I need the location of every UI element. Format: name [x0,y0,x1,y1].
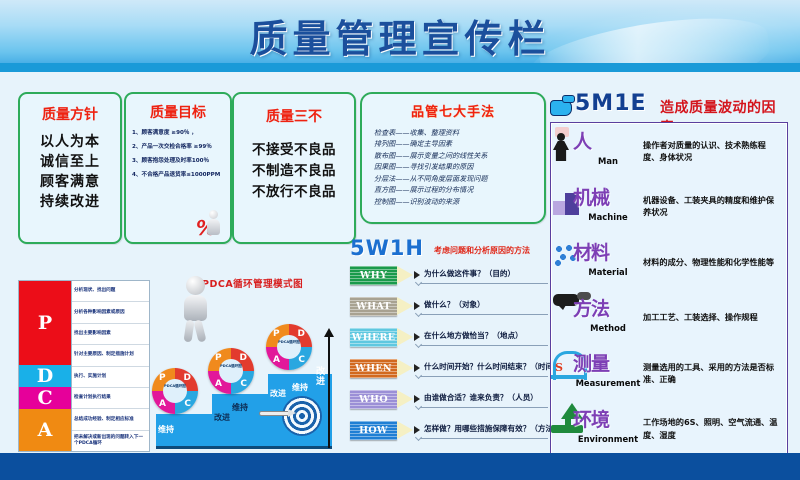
three-no-line: 不放行不良品 [234,182,354,203]
w5h1-text: 什么时间开始？什么时间结束？（时间） [424,361,548,372]
step-label-sustain-3: 维持 [292,382,308,393]
page-title: 质量管理宣传栏 [0,8,800,63]
pdca-cell: 分析各种影响因素或原因 [72,302,149,323]
step-label-sustain-1: 维持 [158,424,174,435]
quality-policy-lines: 以人为本 诚信至上 顾客满意 持续改进 [20,133,120,213]
card-quality-goal: 质量目标 1、顾客满意度 ≥90％ ， 2、产品一次交检合格率 ≥99％ 3、顾… [124,92,232,244]
m1e-label-cn: 方法 [573,294,609,321]
step-label-improve-1: 改进 [214,412,230,423]
w5h1-title: 5W1H [350,236,424,260]
pdca-letter-d: D [19,365,71,387]
arrow-shape-icon [397,297,413,315]
arrow-shape-icon [397,421,413,439]
m1e-panel: 人 Man 操作者对质量的认识、技术熟练程度、身体状况 机械 Machine 机… [550,122,788,458]
pdca-table: P D C A 分析现状、找出问题 分析各种影响因素或原因 找出主要影响因素 针… [18,280,150,452]
cycle-letter-d: D [240,353,247,363]
seven-tool-item: 散布图——展示变量之间的线性关系 [374,150,544,161]
seven-tool-item: 检查表——收集、整理资料 [374,127,544,138]
w5h1-text: 为什么做这件事？（目的） [424,268,548,279]
m1e-icon-cell: 方法 Method [551,290,643,346]
cycle-letter-c: C [240,379,247,389]
w5h1-row: WHAT 做什么？（对象） [348,295,548,326]
m1e-row-environment: 环境 Environment 工作场地的6S、照明、空气流通、温度、湿度 [551,401,787,457]
seven-tools-list: 检查表——收集、整理资料 排列图——确定主导因素 散布图——展示变量之间的线性关… [374,127,544,207]
cycle-caption: PDCA循环图 [219,364,243,368]
axis-label-improve: 改进 [316,368,330,388]
poster-header: 质量管理宣传栏 [0,0,800,72]
cycle-letter-d: D [184,373,191,383]
seven-tool-item: 分层法——从不同角度层面发现问题 [374,173,544,184]
w5h1-underline [420,283,548,284]
w5h1-row: WHY 为什么做这件事？（目的） [348,264,548,295]
seven-tool-item: 因果图——寻找引发结果的原因 [374,161,544,172]
dart-arrow-icon [260,412,290,415]
arrow-shape-icon [397,328,413,346]
m1e-label-cn: 材料 [573,238,609,265]
pdca-cell: 分析现状、找出问题 [72,281,149,302]
w5h1-text: 怎样做？用哪些措施保障有效？（方法） [424,423,548,434]
m1e-label-en: Method [575,323,641,333]
w5h1-underline [420,407,548,408]
bullet-triangle-icon [414,302,420,310]
w5h1-subtitle: 考虑问题和分析原因的方法 [434,245,530,256]
w5h1-underline [420,376,548,377]
w5h1-text: 由谁做合适？谁来负责？（人员） [424,392,548,403]
policy-line: 持续改进 [20,193,120,213]
seven-tool-item: 直方图——展示过程的分布情况 [374,184,544,195]
m1e-icon-cell: 环境 Environment [551,401,643,457]
m1e-label-cn: 环境 [573,405,609,432]
cycle-caption: PDCA循环图 [277,340,301,344]
step-label-sustain-2: 维持 [232,402,248,413]
m1e-description: 加工工艺、工装选择、操作规程 [643,311,787,323]
w5h1-tab-what: WHAT [350,297,397,316]
m1e-description: 材料的成分、物理性能和化学性能等 [643,256,787,268]
pdca-cell: 针对主要原因、制定措施计划 [72,345,149,366]
bullet-triangle-icon [414,364,420,372]
seven-tool-item: 排列图——确定主导因素 [374,138,544,149]
header-bottom-edge [0,63,800,72]
quality-policy-heading: 质量方针 [20,104,120,124]
pdca-letter-p: P [19,281,71,365]
m1e-label-cn: 人 [573,127,591,154]
w5h1-underline [420,345,548,346]
w5h1-row: WHO 由谁做合适？谁来负责？（人员） [348,388,548,419]
pdca-cycle-2: P D C A PDCA循环图 [208,348,254,394]
m1e-label-cn: 机械 [573,183,609,210]
w5h1-tab-where: WHERE [350,328,397,347]
quality-three-no-lines: 不接受不良品 不制造不良品 不放行不良品 [234,140,354,203]
pdca-letter-column: P D C A [19,281,71,451]
bullet-triangle-icon [414,271,420,279]
section-5m1e: 5M1E 造成质量波动的因素 人 Man 操作者对质量的认识、技术熟练程度、身体… [548,92,788,458]
m1e-title: 5M1E [575,91,647,116]
goal-item: 3、顾客抱怨处理及时率100％ [132,158,225,166]
pdca-cell: 把未解决或新出现的问题转入下一个PDCA循环 [72,431,149,451]
m1e-row-man: 人 Man 操作者对质量的认识、技术熟练程度、身体状况 [551,123,787,179]
cycle-letter-p: P [273,329,280,339]
m1e-icon-cell: 机械 Machine [551,179,643,235]
three-no-line: 不制造不良品 [234,161,354,182]
policy-line: 顾客满意 [20,173,120,193]
pdca-cycle-1: P D C A PDCA循环图 [152,368,198,414]
bullet-triangle-icon [414,395,420,403]
step-label-improve-2: 改进 [270,388,286,399]
manikin-figure-icon [178,276,212,342]
policy-line: 以人为本 [20,133,120,153]
improvement-axis-arrow-icon [328,336,330,448]
m1e-label-en: Environment [575,434,641,444]
person-body-icon [553,141,569,161]
pdca-letter-a: A [19,409,71,451]
m1e-row-machine: 机械 Machine 机器设备、工装夹具的精度和维护保养状况 [551,179,787,235]
goal-item: 4、不合格产品退货率≤1000PPM [132,172,225,180]
m1e-label-cn: 测量 [573,349,609,376]
w5h1-row: HOW 怎样做？用哪些措施保障有效？（方法） [348,419,548,450]
policy-line: 诚信至上 [20,153,120,173]
m1e-icon-cell: 人 Man [551,123,643,179]
pdca-description-column: 分析现状、找出问题 分析各种影响因素或原因 找出主要影响因素 针对主要原因、制定… [71,281,149,451]
section-5w1h: 5W1H 考虑问题和分析原因的方法 WHY 为什么做这件事？（目的） WHAT … [348,236,548,458]
seven-tools-heading: 品管七大手法 [362,101,544,120]
w5h1-text: 做什么？（对象） [424,299,548,310]
m1e-label-en: Man [575,156,641,166]
stair-base-line [156,446,332,449]
m1e-label-en: Measurement [575,378,641,388]
w5h1-row: WHERE 在什么地方做恰当？（地点） [348,326,548,357]
m1e-row-measurement: S 测量 Measurement 测量选用的工具、采用的方法是否标准、正确 [551,345,787,401]
w5h1-tab-why: WHY [350,266,397,285]
pdca-cell: 总结成功经验、制定相应标准 [72,409,149,430]
gauge-letter-icon: S [555,361,563,374]
figurine-icon [205,210,222,242]
pointing-hand-icon [548,94,574,118]
bullet-triangle-icon [414,333,420,341]
quality-three-no-heading: 质量三不 [234,106,354,126]
goal-item: 2、产品一次交检合格率 ≥99％ [132,144,225,152]
goal-item: 1、顾客满意度 ≥90％ ， [132,130,225,138]
arrow-shape-icon [397,390,413,408]
pdca-cell: 找出主要影响因素 [72,324,149,345]
card-quality-three-no: 质量三不 不接受不良品 不制造不良品 不放行不良品 [232,92,356,244]
m1e-row-material: 材料 Material 材料的成分、物理性能和化学性能等 [551,234,787,290]
w5h1-tab-how: HOW [350,421,397,440]
arrow-shape-icon [397,266,413,284]
cycle-letter-p: P [215,353,222,363]
cycle-letter-a: A [273,355,280,365]
cycle-letter-p: P [159,373,166,383]
m1e-icon-cell: 材料 Material [551,234,643,290]
arrow-shape-icon [397,359,413,377]
pdca-cell: 检查计划执行结果 [72,388,149,409]
cycle-letter-c: C [298,355,305,365]
three-no-line: 不接受不良品 [234,140,354,161]
cycle-letter-a: A [215,379,222,389]
cycle-letter-a: A [159,399,166,409]
m1e-label-en: Machine [575,212,641,222]
m1e-description: 操作者对质量的认识、技术熟练程度、身体状况 [643,139,787,164]
w5h1-text: 在什么地方做恰当？（地点） [424,330,548,341]
pdca-cell: 执行、实施计划 [72,367,149,388]
w5h1-underline [420,438,548,439]
w5h1-tab-when: WHEN [350,359,397,378]
w5h1-rows: WHY 为什么做这件事？（目的） WHAT 做什么？（对象） WHERE 在什么… [348,264,548,450]
card-quality-policy: 质量方针 以人为本 诚信至上 顾客满意 持续改进 [18,92,122,244]
pdca-cycle-3: P D C A PDCA循环图 [266,324,312,370]
quality-goal-list: 1、顾客满意度 ≥90％ ， 2、产品一次交检合格率 ≥99％ 3、顾客抱怨处理… [132,130,225,180]
cycle-letter-d: D [298,329,305,339]
pdca-letter-c: C [19,387,71,409]
w5h1-underline [420,314,548,315]
m1e-row-method: 方法 Method 加工工艺、工装选择、操作规程 [551,290,787,346]
w5h1-tab-who: WHO [350,390,397,409]
m1e-description: 工作场地的6S、照明、空气流通、温度、湿度 [643,416,787,441]
pdca-diagram-title: PDCA循环管理模式图 [202,276,303,290]
quality-goal-heading: 质量目标 [126,102,230,122]
m1e-description: 测量选用的工具、采用的方法是否标准、正确 [643,361,787,386]
cycle-letter-c: C [184,399,191,409]
poster-root: 质量管理宣传栏 质量方针 以人为本 诚信至上 顾客满意 持续改进 质量目标 1、… [0,0,800,480]
machine-base-icon [553,201,565,215]
w5h1-row: WHEN 什么时间开始？什么时间结束？（时间） [348,357,548,388]
m1e-label-en: Material [575,267,641,277]
bullet-triangle-icon [414,426,420,434]
person-head-icon [557,133,565,141]
m1e-header: 5M1E 造成质量波动的因素 [548,92,788,122]
pdca-cycle-diagram: PDCA循环管理模式图 改进 P D C A PDCA循环图 P D C A P… [150,272,340,452]
m1e-description: 机器设备、工装夹具的精度和维护保养状况 [643,194,787,219]
cycle-caption: PDCA循环图 [163,384,187,388]
poster-footer-bar [0,453,800,480]
m1e-icon-cell: S 测量 Measurement [551,345,643,401]
seven-tool-item: 控制图——识别波动的来源 [374,196,544,207]
card-seven-qc-tools: 品管七大手法 检查表——收集、整理资料 排列图——确定主导因素 散布图——展示变… [360,92,546,224]
